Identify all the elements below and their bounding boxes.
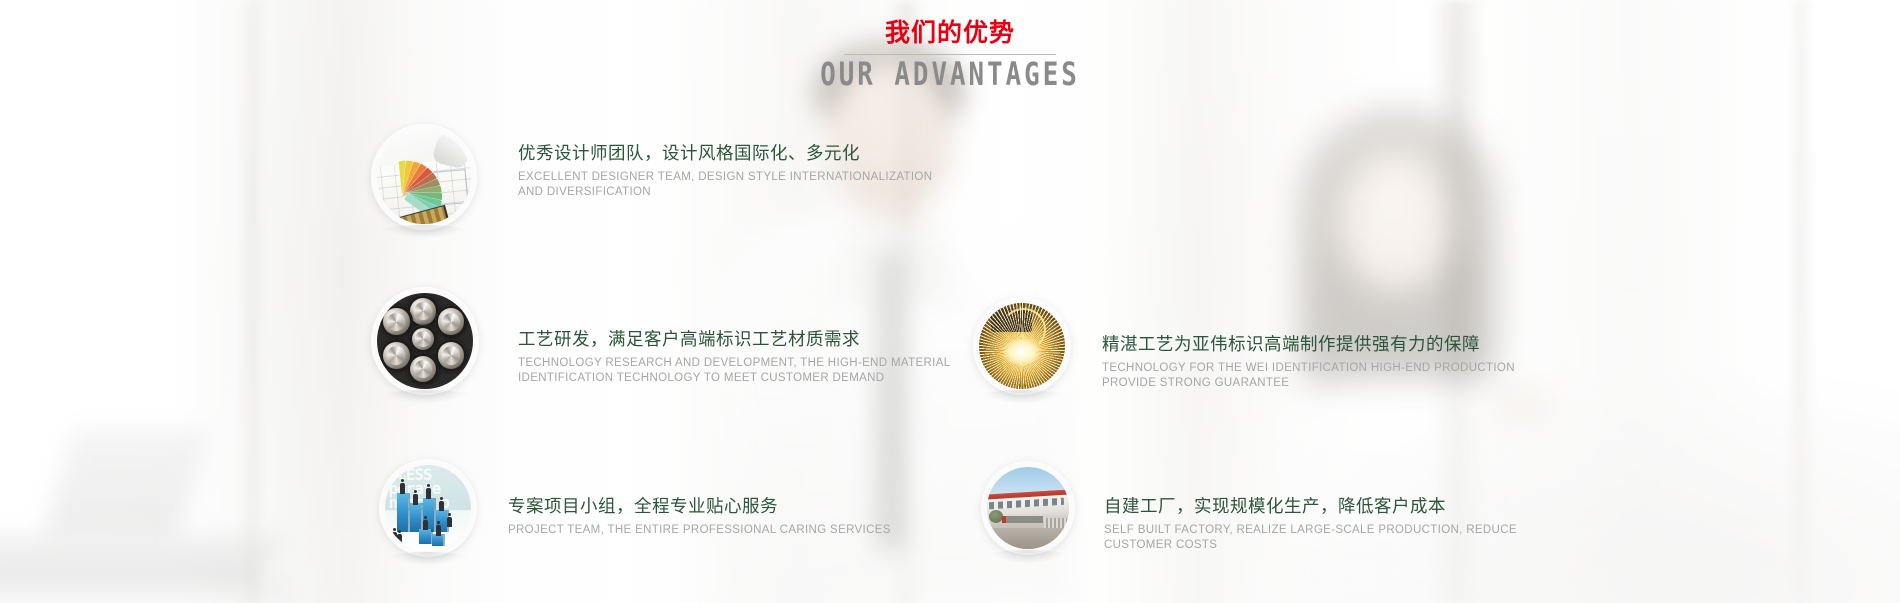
feature-thumbnail[interactable]: OCESS poratenance pgraph grow gal measur… xyxy=(380,460,476,556)
welding-sparks-icon xyxy=(979,303,1065,389)
feature-text: 自建工厂，实现规模化生产，降低客户成本 SELF BUILT FACTORY, … xyxy=(1104,492,1517,553)
feature-text: 专案项目小组，全程专业贴心服务 PROJECT TEAM, THE ENTIRE… xyxy=(508,492,891,538)
feature-thumbnail[interactable] xyxy=(974,298,1070,394)
feature-title-en: EXCELLENT DESIGNER TEAM, DESIGN STYLE IN… xyxy=(518,170,932,200)
page-title-cn: 我们的优势 xyxy=(0,18,1900,48)
feature-item-project-team[interactable]: OCESS poratenance pgraph grow gal measur… xyxy=(380,460,891,556)
factory-building-icon xyxy=(987,467,1069,549)
feature-thumbnail[interactable] xyxy=(372,288,478,394)
feature-thumbnail[interactable] xyxy=(372,125,476,229)
feature-item-designer-team[interactable]: 优秀设计师团队，设计风格国际化、多元化 EXCELLENT DESIGNER T… xyxy=(372,125,932,229)
feature-title-cn: 精湛工艺为亚伟标识高端制作提供强有力的保障 xyxy=(1102,332,1515,356)
feature-title-cn: 工艺研发，满足客户高端标识工艺材质需求 xyxy=(518,327,950,351)
feature-title-cn: 优秀设计师团队，设计风格国际化、多元化 xyxy=(518,141,932,165)
feature-item-technology-rd[interactable]: 工艺研发，满足客户高端标识工艺材质需求 TECHNOLOGY RESEARCH … xyxy=(372,288,950,394)
feature-title-en: TECHNOLOGY FOR THE WEI IDENTIFICATION HI… xyxy=(1102,361,1515,391)
feature-text: 工艺研发，满足客户高端标识工艺材质需求 TECHNOLOGY RESEARCH … xyxy=(518,325,950,386)
feature-title-cn: 自建工厂，实现规模化生产，降低客户成本 xyxy=(1104,494,1517,518)
feature-title-en: SELF BUILT FACTORY, REALIZE LARGE-SCALE … xyxy=(1104,523,1517,553)
color-swatch-blueprint-icon xyxy=(377,130,471,224)
feature-item-craftsmanship-guarantee[interactable]: 精湛工艺为亚伟标识高端制作提供强有力的保障 TECHNOLOGY FOR THE… xyxy=(974,298,1515,394)
feature-text: 优秀设计师团队，设计风格国际化、多元化 EXCELLENT DESIGNER T… xyxy=(518,139,932,200)
feature-thumbnail[interactable] xyxy=(982,462,1074,554)
feature-title-en: TECHNOLOGY RESEARCH AND DEVELOPMENT, THE… xyxy=(518,356,950,386)
page-title-en: OUR ADVANTAGES xyxy=(133,57,1767,94)
laptop-silhouette xyxy=(0,430,280,603)
feature-title-en: PROJECT TEAM, THE ENTIRE PROFESSIONAL CA… xyxy=(508,523,891,538)
advantages-section: 我们的优势 OUR ADVANTAGES xyxy=(0,0,1900,603)
heading-divider xyxy=(844,54,1056,55)
feature-title-cn: 专案项目小组，全程专业贴心服务 xyxy=(508,494,891,518)
feature-text: 精湛工艺为亚伟标识高端制作提供强有力的保障 TECHNOLOGY FOR THE… xyxy=(1102,330,1515,391)
feature-item-own-factory[interactable]: 自建工厂，实现规模化生产，降低客户成本 SELF BUILT FACTORY, … xyxy=(982,462,1517,554)
metal-tubes-icon xyxy=(377,293,473,389)
business-chart-people-icon: OCESS poratenance pgraph grow gal measur… xyxy=(385,465,471,551)
section-heading: 我们的优势 OUR ADVANTAGES xyxy=(0,18,1900,91)
